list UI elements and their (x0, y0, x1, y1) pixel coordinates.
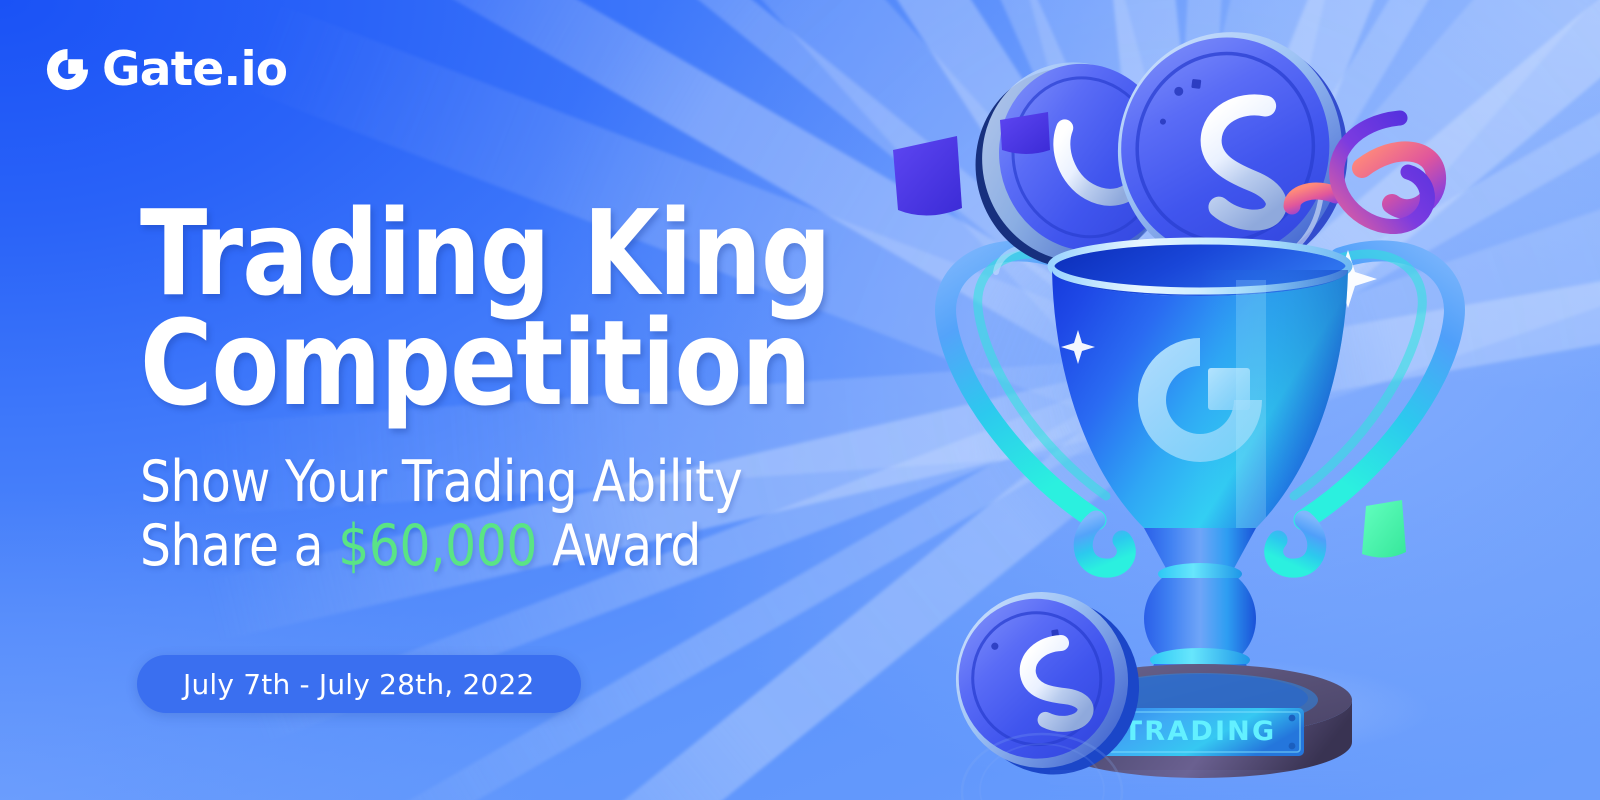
subheadline-prefix: Share a (140, 513, 338, 579)
date-badge[interactable]: July 7th - July 28th, 2022 (137, 655, 581, 713)
copy-block: Trading King Competition Show Your Tradi… (140, 196, 900, 579)
handle-curl-right (1274, 520, 1317, 568)
gate-g-mark-icon (44, 46, 91, 93)
brand-name: Gate.io (102, 46, 287, 93)
page-title: Trading King Competition (140, 196, 847, 421)
subheadline: Show Your Trading Ability Share a $60,00… (140, 451, 862, 579)
handle-curl-left (1083, 520, 1126, 568)
award-amount: $60,000 (338, 513, 537, 579)
trophy-illustration: TRADING (900, 0, 1600, 800)
trophy-plaque-label: TRADING (1124, 716, 1277, 747)
headline-line-2: Competition (140, 306, 847, 422)
subheadline-suffix: Award (537, 513, 701, 579)
promo-banner: TRADING (0, 0, 1600, 800)
subheadline-line-1: Show Your Trading Ability (140, 449, 742, 515)
brand-logo[interactable]: Gate.io (44, 46, 287, 93)
